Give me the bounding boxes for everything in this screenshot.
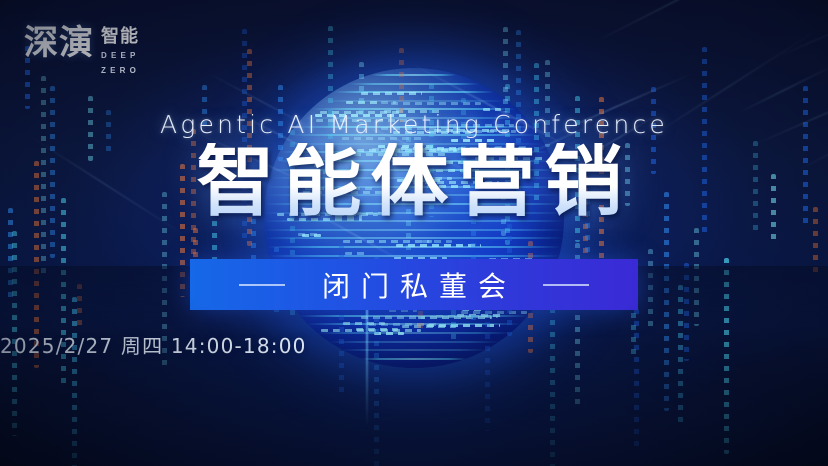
session-type-banner: 闭门私董会 — [190, 259, 638, 310]
conference-subtitle-en: Agentic AI Marketing Conference — [0, 110, 828, 139]
event-poster: 深演 智能 DEEP ZERO Agentic AI Marketing Con… — [0, 0, 828, 466]
event-datetime: 2025/2/27 周四 14:00-18:00 — [0, 330, 828, 359]
session-type-label: 闭门私董会 — [311, 265, 517, 305]
brand-logo[interactable]: 深演 智能 DEEP ZERO — [24, 26, 140, 77]
logo-text-group: 智能 DEEP ZERO — [101, 26, 140, 77]
logo-brand-en-line1: DEEP — [101, 50, 140, 62]
logo-brand-cn-secondary: 智能 — [101, 28, 140, 47]
logo-brand-en-line2: ZERO — [101, 65, 140, 77]
logo-brand-cn: 深演 — [24, 26, 94, 60]
banner-rule-left — [239, 284, 285, 286]
vertical-beam — [366, 300, 368, 428]
banner-rule-right — [543, 284, 589, 286]
page-title: 智能体营销 — [0, 143, 828, 221]
